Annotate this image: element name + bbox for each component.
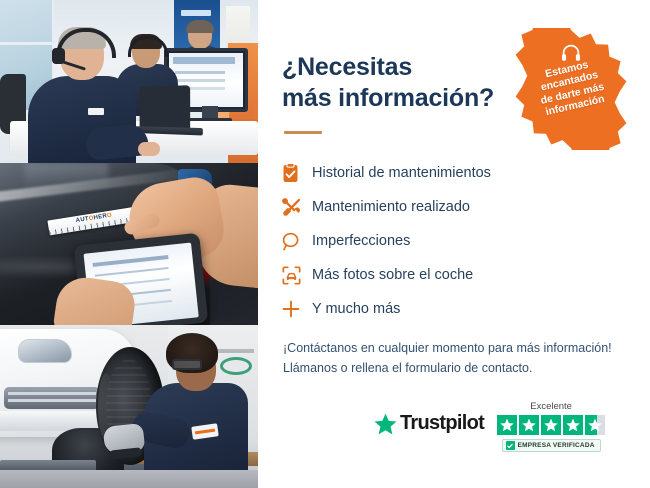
feature-label: Más fotos sobre el coche bbox=[312, 267, 473, 283]
star-filled bbox=[519, 415, 539, 435]
trustpilot-logo: Trustpilot bbox=[374, 412, 484, 435]
trustpilot-rating: Excelente bbox=[497, 401, 605, 452]
rating-label: Excelente bbox=[530, 401, 572, 412]
feature-item-imperfections: Imperfecciones bbox=[282, 224, 628, 258]
trustpilot-widget[interactable]: Trustpilot Excelente bbox=[374, 401, 605, 452]
feature-item-maintenance-history: Historial de mantenimientos bbox=[282, 156, 628, 190]
starburst-shape-icon bbox=[510, 28, 632, 150]
feature-label: Mantenimiento realizado bbox=[312, 199, 470, 215]
contact-text: ¡Contáctanos en cualquier momento para m… bbox=[283, 338, 628, 379]
tools-icon bbox=[282, 195, 312, 219]
plus-icon bbox=[282, 297, 312, 321]
page-title: ¿Necesitas más información? bbox=[282, 52, 522, 113]
photo-collage: AUTOHERO bbox=[0, 0, 258, 488]
feature-item-more-photos: Más fotos sobre el coche bbox=[282, 258, 628, 292]
contact-line-1: ¡Contáctanos en cualquier momento para m… bbox=[283, 338, 628, 358]
trustpilot-wordmark: Trustpilot bbox=[400, 412, 484, 435]
photo-call-center-agents bbox=[0, 0, 258, 163]
star-filled bbox=[497, 415, 517, 435]
maintenance-history-icon bbox=[282, 161, 312, 185]
promo-content: ¿Necesitas más información? Estamos enca… bbox=[258, 0, 650, 488]
contact-line-2: Llámanos o rellena el formulario de cont… bbox=[283, 358, 628, 378]
support-badge: Estamos encantados de darte más informac… bbox=[510, 28, 632, 150]
information-promo-card: AUTOHERO bbox=[0, 0, 650, 488]
feature-item-maintenance-done: Mantenimiento realizado bbox=[282, 190, 628, 224]
headline-divider bbox=[284, 131, 322, 134]
star-filled bbox=[541, 415, 561, 435]
headline-line-1: ¿Necesitas bbox=[282, 53, 412, 81]
magnifier-icon bbox=[282, 229, 312, 253]
trustpilot-star-icon bbox=[374, 413, 397, 435]
status-badge: EMPRESA VERIFICADA bbox=[502, 439, 601, 452]
star-partial bbox=[585, 415, 605, 435]
verified-label: EMPRESA VERIFICADA bbox=[518, 442, 595, 449]
car-photo-frame-icon bbox=[282, 263, 312, 287]
feature-list: Historial de mantenimientos Mantenimient… bbox=[282, 156, 628, 326]
feature-item-much-more: Y mucho más bbox=[282, 292, 628, 326]
star-rating bbox=[497, 415, 605, 435]
check-badge-icon bbox=[506, 441, 515, 450]
feature-label: Y mucho más bbox=[312, 301, 400, 317]
star-filled bbox=[563, 415, 583, 435]
feature-label: Historial de mantenimientos bbox=[312, 165, 491, 181]
headline-line-2: más información? bbox=[282, 84, 494, 112]
photo-mechanic-tire-check bbox=[0, 325, 258, 488]
photo-vehicle-inspection: AUTOHERO bbox=[0, 163, 258, 325]
feature-label: Imperfecciones bbox=[312, 233, 410, 249]
